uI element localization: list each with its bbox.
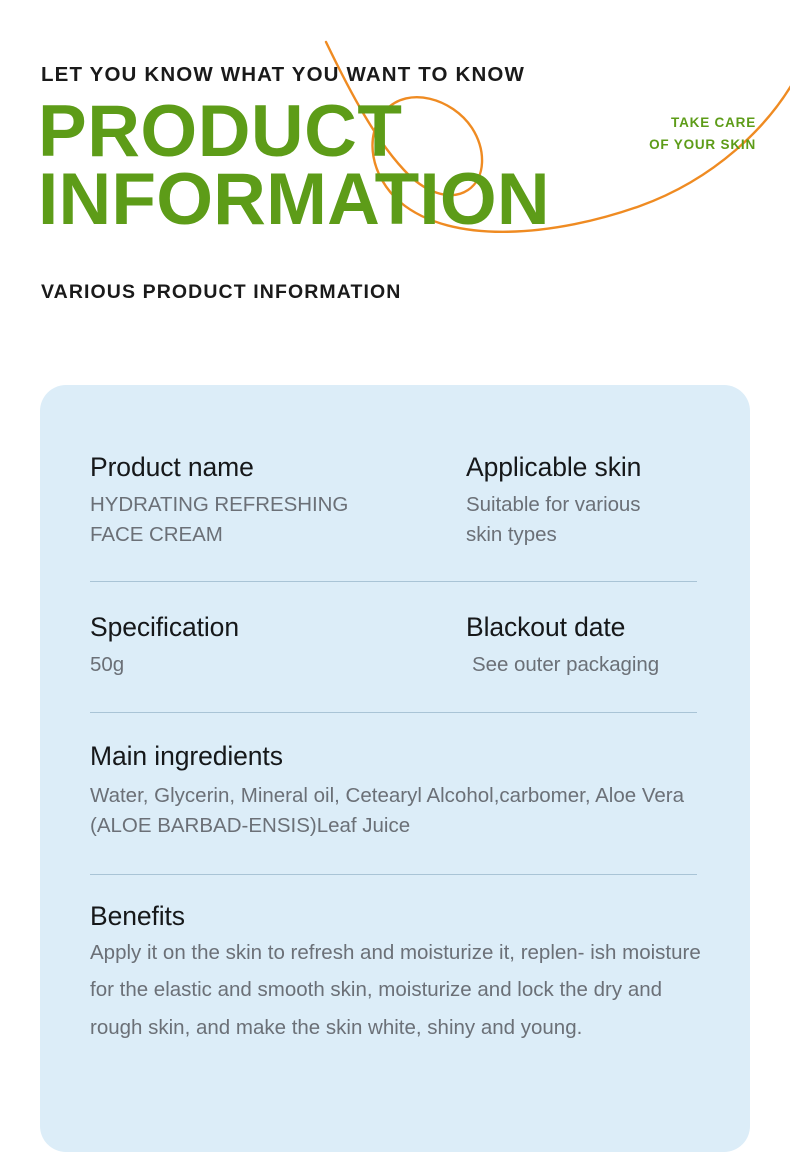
field-benefits-label: Benefits — [90, 902, 705, 932]
field-main-ingredients-label: Main ingredients — [90, 742, 705, 772]
field-product-name-label: Product name — [90, 453, 466, 483]
field-benefits-value: Apply it on the skin to refresh and mois… — [90, 934, 705, 1047]
field-blackout-date-label: Blackout date — [466, 613, 705, 643]
field-blackout-date: Blackout date See outer packaging — [466, 613, 705, 680]
page-title: PRODUCT INFORMATION — [38, 98, 550, 234]
card-divider-1 — [90, 581, 697, 582]
field-applicable-skin-value-line-1: Suitable for various — [466, 490, 705, 520]
card-divider-3 — [90, 874, 697, 875]
take-care-badge-line-2: OF YOUR SKIN — [649, 134, 756, 156]
field-applicable-skin-value-line-2: skin types — [466, 520, 705, 550]
field-blackout-date-value: See outer packaging — [466, 650, 705, 680]
header-subtitle: VARIOUS PRODUCT INFORMATION — [41, 281, 401, 304]
take-care-badge-line-1: TAKE CARE — [649, 112, 756, 134]
field-specification: Specification 50g — [90, 613, 466, 680]
field-product-name-value-line-1: HYDRATING REFRESHING — [90, 490, 466, 520]
field-applicable-skin-label: Applicable skin — [466, 453, 705, 483]
card-divider-2 — [90, 712, 697, 713]
field-main-ingredients-value: Water, Glycerin, Mineral oil, Cetearyl A… — [90, 781, 705, 841]
header-eyebrow: LET YOU KNOW WHAT YOU WANT TO KNOW — [41, 63, 525, 87]
field-applicable-skin: Applicable skin Suitable for various ski… — [466, 453, 705, 550]
field-product-name: Product name HYDRATING REFRESHING FACE C… — [90, 453, 466, 550]
field-main-ingredients-value-line-1: Water, Glycerin, Mineral oil, Cetearyl A… — [90, 784, 591, 807]
row-specification-and-blackout-date: Specification 50g Blackout date See oute… — [90, 613, 705, 680]
field-benefits-value-line-1: Apply it on the skin to refresh and mois… — [90, 941, 585, 964]
field-specification-value: 50g — [90, 650, 466, 680]
field-product-name-value-line-2: FACE CREAM — [90, 520, 466, 550]
field-benefits: Benefits Apply it on the skin to refresh… — [90, 902, 705, 1047]
field-applicable-skin-value: Suitable for various skin types — [466, 490, 705, 550]
field-specification-label: Specification — [90, 613, 466, 643]
field-product-name-value: HYDRATING REFRESHING FACE CREAM — [90, 490, 466, 550]
page-title-line-2: INFORMATION — [38, 166, 550, 234]
field-benefits-value-line-4: shiny and young. — [427, 1016, 582, 1039]
row-product-name-and-skin: Product name HYDRATING REFRESHING FACE C… — [90, 453, 705, 550]
take-care-badge: TAKE CARE OF YOUR SKIN — [649, 112, 756, 157]
product-information-card: Product name HYDRATING REFRESHING FACE C… — [40, 385, 750, 1152]
field-main-ingredients: Main ingredients Water, Glycerin, Minera… — [90, 742, 705, 841]
